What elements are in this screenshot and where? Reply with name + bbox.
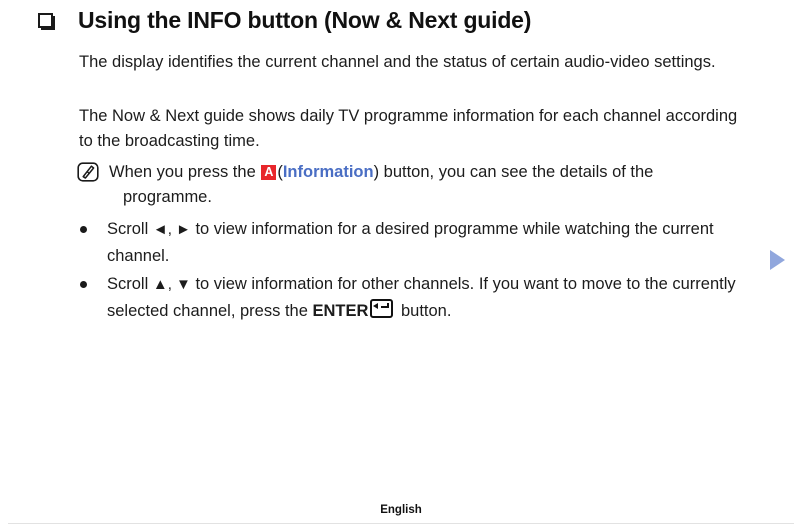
left-right-arrow-glyphs: ◄, ► [153,221,191,238]
bullet-dot-icon [80,281,87,288]
page-title: Using the INFO button (Now & Next guide) [78,8,531,33]
enter-button-label: ENTER [312,302,368,320]
key-badge-a: A [261,165,276,180]
note-prefix: When you press the [109,163,260,181]
enter-key-icon [370,299,393,318]
list-item-text: Scroll ◄, ► to view information for a de… [107,216,770,270]
footer-divider [8,523,794,524]
list-item: Scroll ▲, ▼ to view information for othe… [80,271,770,325]
footer-language-label: English [0,504,802,516]
note-pencil-icon [77,162,99,182]
note-block: When you press the A(Information) button… [77,160,767,210]
note-link-information[interactable]: Information [283,163,374,181]
next-page-arrow-icon[interactable] [770,250,785,270]
page-heading: Using the INFO button (Now & Next guide) [38,8,531,33]
bullet2-tail: button. [396,302,451,320]
bullet1-prefix: Scroll [107,220,153,238]
note-text: When you press the A(Information) button… [109,160,653,210]
intro-paragraph-2: The Now & Next guide shows daily TV prog… [79,104,751,154]
list-item-text: Scroll ▲, ▼ to view information for othe… [107,271,770,325]
up-down-arrow-glyphs: ▲, ▼ [153,276,191,293]
list-item: Scroll ◄, ► to view information for a de… [80,216,770,270]
intro-paragraph-1: The display identifies the current chann… [79,50,751,75]
bullet1-suffix: to view information for a desired progra… [107,220,714,265]
bullet2-prefix: Scroll [107,275,153,293]
square-bullet-icon [38,13,56,31]
manual-page: Using the INFO button (Now & Next guide)… [0,0,802,525]
bullet-dot-icon [80,226,87,233]
note-continuation: programme. [109,185,653,210]
note-suffix: button, you can see the details of the [379,163,653,181]
